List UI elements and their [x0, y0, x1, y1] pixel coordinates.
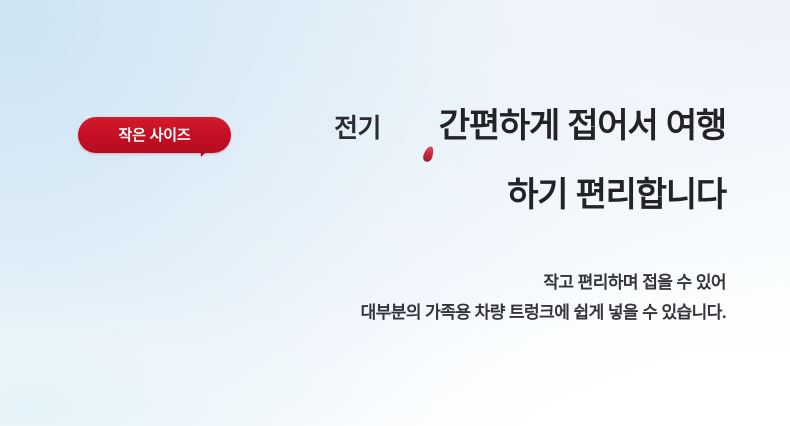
product-feature-banner: 작은 사이즈 전기간편하게 접어서 여행 하기 편리합니다 작고 편리하며 접을…	[0, 0, 790, 426]
headline-line-2-strong: 하기 편리합니다	[507, 176, 726, 214]
headline-block: 전기간편하게 접어서 여행 하기 편리합니다	[206, 104, 726, 216]
headline-line-1-strong: 간편하게 접어서 여행	[439, 107, 726, 145]
size-badge-label: 작은 사이즈	[119, 128, 191, 143]
headline-kicker: 전기	[334, 113, 381, 143]
body-line-1: 작고 편리하며 접을 수 있어	[166, 268, 726, 298]
headline-line-2: 하기 편리합니다	[206, 175, 726, 216]
body-line-2: 대부분의 가족용 차량 트렁크에 쉽게 넣을 수 있습니다.	[166, 298, 726, 328]
banner-content: 작은 사이즈 전기간편하게 접어서 여행 하기 편리합니다 작고 편리하며 접을…	[0, 0, 790, 426]
body-paragraph: 작고 편리하며 접을 수 있어 대부분의 가족용 차량 트렁크에 쉽게 넣을 수…	[166, 268, 726, 328]
headline-line-1: 전기간편하게 접어서 여행	[206, 104, 726, 149]
